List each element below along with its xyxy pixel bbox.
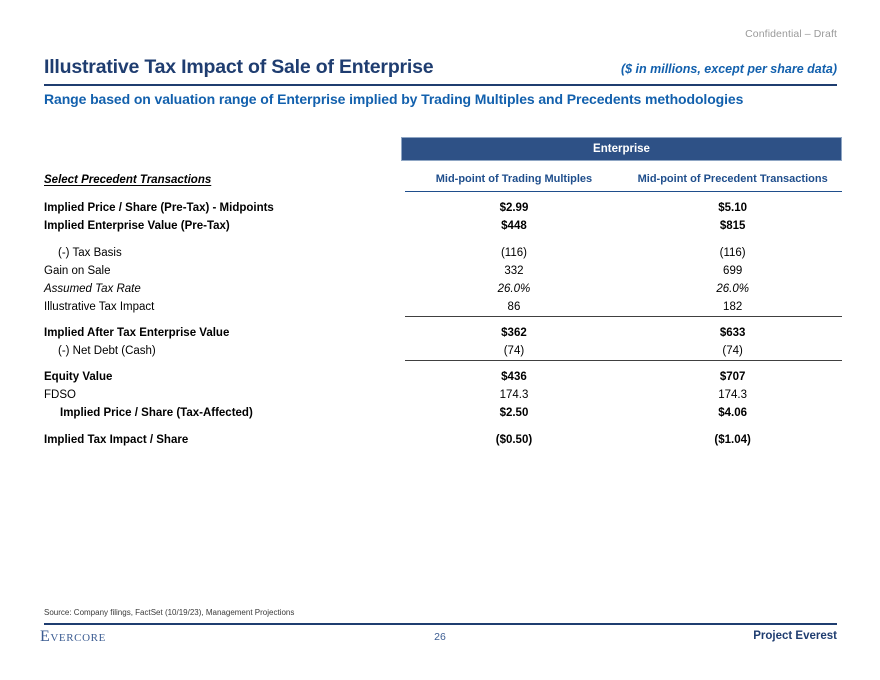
subtotal-rule	[44, 361, 842, 369]
row-label: (-) Tax Basis	[44, 244, 405, 262]
source-note: Source: Company filings, FactSet (10/19/…	[44, 608, 294, 617]
row-value: $362	[405, 324, 624, 342]
row-value: $2.99	[405, 199, 624, 217]
table-row: Implied Tax Impact / Share ($0.50) ($1.0…	[44, 431, 842, 449]
row-value: (116)	[405, 244, 624, 262]
spacer	[44, 192, 842, 200]
row-value: 699	[623, 262, 842, 280]
row-value: $4.06	[623, 404, 842, 422]
row-label: Equity Value	[44, 368, 405, 386]
project-name: Project Everest	[753, 630, 837, 642]
spacer	[44, 422, 842, 431]
row-value: 26.0%	[405, 280, 624, 298]
row-label: Assumed Tax Rate	[44, 280, 405, 298]
row-label: Implied Price / Share (Pre-Tax) - Midpoi…	[44, 199, 405, 217]
row-value: 182	[623, 298, 842, 317]
group-header-label: Enterprise	[593, 143, 650, 155]
row-value: (74)	[405, 342, 624, 361]
table-row: Assumed Tax Rate 26.0% 26.0%	[44, 280, 842, 298]
row-label: Implied After Tax Enterprise Value	[44, 324, 405, 342]
row-value: ($1.04)	[623, 431, 842, 449]
row-value: $633	[623, 324, 842, 342]
row-value: $815	[623, 217, 842, 235]
spacer	[44, 235, 842, 244]
row-label: Implied Tax Impact / Share	[44, 431, 405, 449]
table-row: (-) Tax Basis (116) (116)	[44, 244, 842, 262]
table-row: FDSO 174.3 174.3	[44, 386, 842, 404]
page-number: 26	[0, 631, 880, 643]
footer-divider	[44, 623, 837, 625]
table-row: Implied After Tax Enterprise Value $362 …	[44, 324, 842, 342]
row-value: 86	[405, 298, 624, 317]
tax-impact-table: Select Precedent Transactions Mid-point …	[44, 169, 842, 449]
row-label: Implied Price / Share (Tax-Affected)	[44, 404, 405, 422]
column-header-precedent-transactions: Mid-point of Precedent Transactions	[623, 169, 842, 192]
table-row: Implied Price / Share (Pre-Tax) - Midpoi…	[44, 199, 842, 217]
row-label: Implied Enterprise Value (Pre-Tax)	[44, 217, 405, 235]
table-column-headers: Select Precedent Transactions Mid-point …	[44, 169, 842, 192]
units-note: ($ in millions, except per share data)	[621, 62, 837, 76]
row-value: (116)	[623, 244, 842, 262]
row-label-header: Select Precedent Transactions	[44, 169, 405, 192]
row-value: ($0.50)	[405, 431, 624, 449]
row-value: $5.10	[623, 199, 842, 217]
page-title: Illustrative Tax Impact of Sale of Enter…	[44, 56, 433, 79]
row-value: 26.0%	[623, 280, 842, 298]
title-divider	[44, 84, 837, 86]
row-value: $448	[405, 217, 624, 235]
row-label: FDSO	[44, 386, 405, 404]
row-value: $2.50	[405, 404, 624, 422]
confidentiality-notice: Confidential – Draft	[745, 28, 837, 40]
row-value: $707	[623, 368, 842, 386]
table-row: Equity Value $436 $707	[44, 368, 842, 386]
financial-table: Enterprise Select Precedent Transactions…	[44, 137, 842, 449]
row-value: 174.3	[405, 386, 624, 404]
row-label: (-) Net Debt (Cash)	[44, 342, 405, 361]
column-header-trading-multiples: Mid-point of Trading Multiples	[405, 169, 624, 192]
table-row: Illustrative Tax Impact 86 182	[44, 298, 842, 317]
row-value: $436	[405, 368, 624, 386]
group-header-bar: Enterprise	[401, 137, 842, 161]
title-row: Illustrative Tax Impact of Sale of Enter…	[44, 56, 837, 79]
subtotal-rule	[44, 317, 842, 325]
page-subtitle: Range based on valuation range of Enterp…	[44, 91, 743, 107]
table-row: Implied Price / Share (Tax-Affected) $2.…	[44, 404, 842, 422]
table-row: Implied Enterprise Value (Pre-Tax) $448 …	[44, 217, 842, 235]
row-value: 332	[405, 262, 624, 280]
table-row: Gain on Sale 332 699	[44, 262, 842, 280]
row-label: Gain on Sale	[44, 262, 405, 280]
row-value: (74)	[623, 342, 842, 361]
row-label: Illustrative Tax Impact	[44, 298, 405, 317]
row-value: 174.3	[623, 386, 842, 404]
table-row: (-) Net Debt (Cash) (74) (74)	[44, 342, 842, 361]
